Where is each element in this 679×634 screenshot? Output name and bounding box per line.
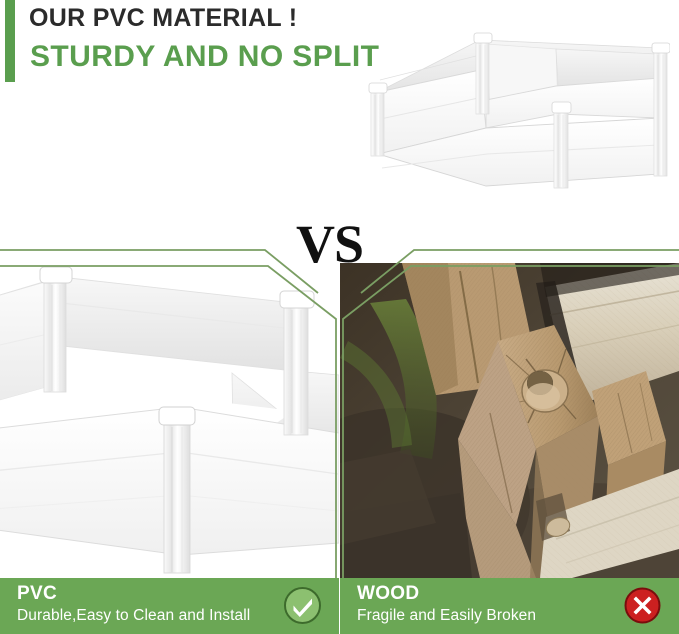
wood-label-bar: WOOD Fragile and Easily Broken — [340, 578, 679, 634]
comparison-panel-wood: WOOD Fragile and Easily Broken — [340, 243, 679, 634]
pvc-label-bar: PVC Durable,Easy to Clean and Install — [0, 578, 339, 634]
header-section: OUR PVC MATERIAL ! STURDY AND NO SPLIT — [0, 0, 679, 215]
pvc-label-title: PVC — [17, 583, 57, 605]
comparison-section: PVC Durable,Easy to Clean and Install — [0, 243, 679, 634]
wood-label-title: WOOD — [357, 583, 419, 605]
wood-label-subtitle: Fragile and Easily Broken — [357, 607, 536, 625]
pvc-product-image — [0, 243, 339, 578]
wood-damage-photo — [340, 243, 679, 578]
infographic-page: OUR PVC MATERIAL ! STURDY AND NO SPLIT — [0, 0, 679, 634]
check-circle-icon — [283, 586, 322, 625]
page-subtitle: STURDY AND NO SPLIT — [30, 40, 379, 74]
pvc-label-subtitle: Durable,Easy to Clean and Install — [17, 607, 250, 625]
versus-label: VS — [296, 217, 363, 271]
comparison-panel-pvc: PVC Durable,Easy to Clean and Install — [0, 243, 339, 634]
page-title: OUR PVC MATERIAL ! — [29, 4, 297, 33]
x-circle-icon — [623, 586, 662, 625]
hero-product-image — [360, 14, 670, 199]
header-accent-bar — [5, 0, 15, 82]
